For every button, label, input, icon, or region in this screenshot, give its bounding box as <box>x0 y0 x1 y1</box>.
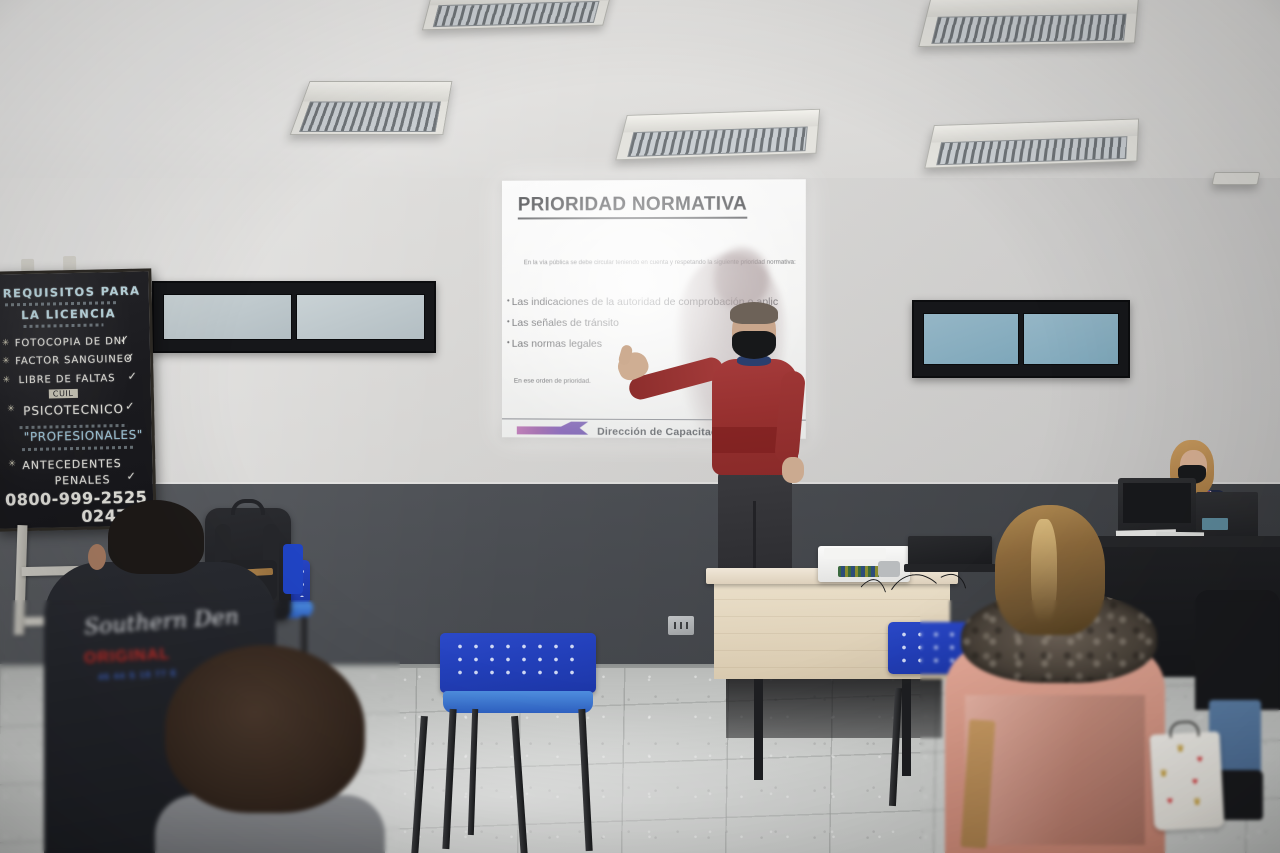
hair-highlight <box>1031 519 1057 623</box>
chalkboard-profesionales: "PROFESIONALES" <box>24 428 143 444</box>
presenter-hair <box>730 302 778 324</box>
chalkboard-check: ✓ <box>125 351 135 364</box>
projector-top-panel <box>824 548 886 559</box>
projector-lens <box>878 561 900 577</box>
chalkboard-heading-2: LA LICENCIA <box>21 306 116 322</box>
chalkboard-item: FOTOCOPIA DE DNI <box>15 336 126 349</box>
projector <box>818 546 910 582</box>
window-pane <box>923 313 1019 365</box>
desk-leg <box>754 676 763 780</box>
bag-heart-icon: ♥ <box>1167 796 1174 807</box>
bag-heart-icon: ♥ <box>1192 776 1199 787</box>
bag-crown-icon: ♛ <box>1176 743 1185 754</box>
presenter-shadow-head <box>714 248 768 308</box>
dark-coat <box>1195 590 1280 710</box>
chalkboard-check: ✓ <box>126 470 136 483</box>
bag-heart-icon: ♥ <box>1197 754 1204 765</box>
window-pane <box>1023 313 1119 365</box>
ceiling-light-icon <box>615 109 820 161</box>
ceiling-light-icon <box>918 0 1139 47</box>
presenter <box>690 305 820 580</box>
slide-title: PRIORIDAD NORMATIVA <box>518 194 747 220</box>
chair-backrest <box>440 633 596 693</box>
chair-leg <box>889 688 902 806</box>
chalkboard-item: LIBRE DE FALTAS <box>18 373 115 386</box>
chalkboard-check: ✓ <box>120 333 130 346</box>
bag-handle <box>1169 720 1200 738</box>
ceiling-light-icon <box>422 0 614 30</box>
chair-front-left[interactable] <box>412 706 530 853</box>
window-right <box>912 300 1130 378</box>
printer <box>1196 492 1258 540</box>
municipal-logo-icon <box>517 421 588 434</box>
chalkboard-check: ✓ <box>125 400 135 413</box>
ceiling-light-icon <box>924 119 1139 169</box>
wall-outlet-icon <box>668 616 694 635</box>
window-pane <box>163 294 292 340</box>
seated-woman-pink-parka <box>935 505 1170 853</box>
chalkboard-item: ANTECEDENTES <box>22 457 121 472</box>
student-ear <box>88 544 106 570</box>
chalkboard-item: PSICOTECNICO <box>23 402 124 418</box>
face-mask-icon <box>732 331 776 359</box>
chalkboard-check: ✓ <box>127 370 137 383</box>
water-bottle <box>283 544 303 594</box>
shopping-bag[interactable]: ♛ ♥ ♥ ♥ ♛ ♛ <box>1150 731 1225 831</box>
chair-leg <box>511 716 528 853</box>
classroom-photo: PRIORIDAD NORMATIVA En la vía pública se… <box>0 0 1280 853</box>
chalkboard-penales: PENALES <box>55 473 111 487</box>
chalkboard: REQUISITOS PARA LA LICENCIA ✳ FOTOCOPIA … <box>0 268 157 531</box>
window-pane <box>296 294 425 340</box>
chalkboard-heading-1: REQUISITOS PARA <box>3 284 141 301</box>
seated-student-curly-hair <box>165 645 365 853</box>
chair-perforations <box>452 640 583 683</box>
bag-crown-icon: ♛ <box>1159 768 1168 779</box>
smoke-detector-icon <box>1212 172 1261 185</box>
slide-note: En ese orden de prioridad. <box>514 378 591 385</box>
printer-control-panel[interactable] <box>1202 518 1228 530</box>
presenter-right-hand <box>782 457 804 483</box>
ceiling-light-icon <box>290 81 453 135</box>
window-left <box>152 281 436 353</box>
projector-ports <box>838 566 880 577</box>
chalkboard-easel: REQUISITOS PARA LA LICENCIA ✳ FOTOCOPIA … <box>0 268 157 531</box>
bag-crown-icon: ♛ <box>1193 796 1202 807</box>
student-curly-hair <box>165 645 365 813</box>
chalkboard-cuil-box: CUIL <box>49 389 78 399</box>
chair-leg <box>411 716 428 853</box>
chair-leg <box>578 709 592 851</box>
student-head <box>108 500 204 574</box>
